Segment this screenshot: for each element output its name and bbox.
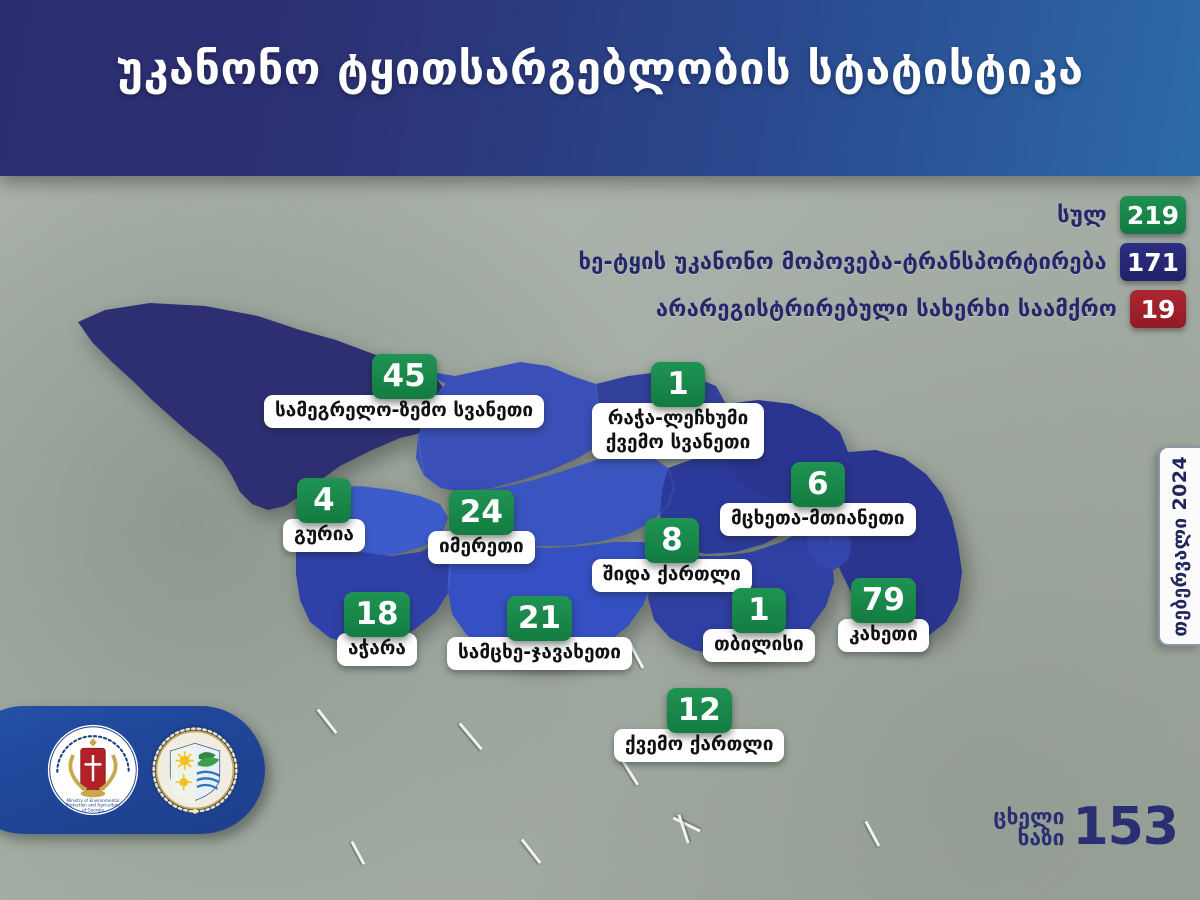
legend-value-illegal-logging: 171 xyxy=(1120,243,1186,281)
marker-label-guria: გურია xyxy=(283,519,365,552)
marker-samtskhe[interactable]: 21 სამცხე-ჯავახეთი xyxy=(447,596,632,670)
legend-label-unregistered-sawmill: არარეგისტრირებული სახერხი საამქრო xyxy=(656,297,1117,322)
marker-kvemo-kartli[interactable]: 12 ქვემო ქართლი xyxy=(614,688,784,762)
legend: სულ 219 ხე-ტყის უკანონო მოპოვება-ტრანსპო… xyxy=(466,196,1186,337)
marker-label-tbilisi: თბილისი xyxy=(703,629,815,662)
marker-label-samegrelo: სამეგრელო-ზემო სვანეთი xyxy=(264,395,544,428)
marker-label-racha-line1: რაჭა-ლეჩხუმი xyxy=(608,407,749,429)
hotline: ცხელი ხაზი 153 xyxy=(993,804,1178,852)
page-title: უკანონო ტყითსარგებლობის სტატისტიკა xyxy=(0,44,1200,94)
marker-value-imereti: 24 xyxy=(449,490,514,535)
date-tab: თებერვალი 2024 xyxy=(1158,446,1200,646)
date-tab-label: თებერვალი 2024 xyxy=(1169,456,1191,637)
ministry-of-environmental-protection-and-agriculture-emblem: Ministry of Environmental Protection and… xyxy=(46,723,140,817)
marker-racha[interactable]: 1 რაჭა-ლეჩხუმი ქვემო სვანეთი xyxy=(592,362,764,459)
marker-imereti[interactable]: 24 იმერეთი xyxy=(428,490,535,564)
legend-row-illegal-logging: ხე-ტყის უკანონო მოპოვება-ტრანსპორტირება … xyxy=(466,243,1186,281)
legend-value-total: 219 xyxy=(1120,196,1186,234)
legend-row-unregistered-sawmill: არარეგისტრირებული სახერხი საამქრო 19 xyxy=(466,290,1186,328)
hotline-label-line1: ცხელი xyxy=(993,807,1064,828)
legend-label-illegal-logging: ხე-ტყის უკანონო მოპოვება-ტრანსპორტირება xyxy=(578,250,1106,275)
marker-label-adjara: აჭარა xyxy=(337,633,417,666)
marker-label-mtskheta: მცხეთა-მთიანეთი xyxy=(720,503,916,536)
marker-value-mtskheta: 6 xyxy=(791,462,845,507)
marker-tbilisi[interactable]: 1 თბილისი xyxy=(703,588,815,662)
header-banner: უკანონო ტყითსარგებლობის სტატისტიკა xyxy=(0,0,1200,176)
marker-value-tbilisi: 1 xyxy=(732,588,786,633)
svg-text:of Georgia: of Georgia xyxy=(82,807,104,812)
marker-label-samtskhe: სამცხე-ჯავახეთი xyxy=(447,637,632,670)
hotline-number: 153 xyxy=(1072,804,1178,852)
marker-guria[interactable]: 4 გურია xyxy=(283,478,365,552)
legend-label-total: სულ xyxy=(1057,203,1107,228)
marker-label-kakheti: კახეთი xyxy=(838,619,929,652)
marker-mtskheta[interactable]: 6 მცხეთა-მთიანეთი xyxy=(720,462,916,536)
marker-value-shida-kartli: 8 xyxy=(645,518,699,563)
hotline-label-line2: ხაზი xyxy=(993,828,1064,849)
infographic-canvas: უკანონო ტყითსარგებლობის სტატისტიკა სულ 2… xyxy=(0,0,1200,900)
marker-kakheti[interactable]: 79 კახეთი xyxy=(838,578,929,652)
marker-samegrelo[interactable]: 45 სამეგრელო-ზემო სვანეთი xyxy=(264,354,544,428)
marker-value-kvemo-kartli: 12 xyxy=(667,688,732,733)
marker-value-guria: 4 xyxy=(297,478,351,523)
legend-row-total: სულ 219 xyxy=(466,196,1186,234)
marker-label-racha-line2: ქვემო სვანეთი xyxy=(606,431,751,453)
marker-label-racha: რაჭა-ლეჩხუმი ქვემო სვანეთი xyxy=(592,403,764,459)
marker-value-kakheti: 79 xyxy=(851,578,916,623)
marker-label-shida-kartli: შიდა ქართლი xyxy=(592,559,752,592)
hotline-label: ცხელი ხაზი xyxy=(993,807,1064,850)
legend-value-unregistered-sawmill: 19 xyxy=(1130,290,1186,328)
marker-value-samegrelo: 45 xyxy=(372,354,437,399)
logo-bar: Ministry of Environmental Protection and… xyxy=(0,706,265,834)
marker-label-kvemo-kartli: ქვემო ქართლი xyxy=(614,729,784,762)
marker-label-imereti: იმერეთი xyxy=(428,531,535,564)
marker-value-samtskhe: 21 xyxy=(507,596,572,641)
marker-value-racha: 1 xyxy=(651,362,705,407)
marker-value-adjara: 18 xyxy=(344,592,409,637)
department-of-environmental-supervision-emblem xyxy=(148,723,242,817)
marker-adjara[interactable]: 18 აჭარა xyxy=(337,592,417,666)
